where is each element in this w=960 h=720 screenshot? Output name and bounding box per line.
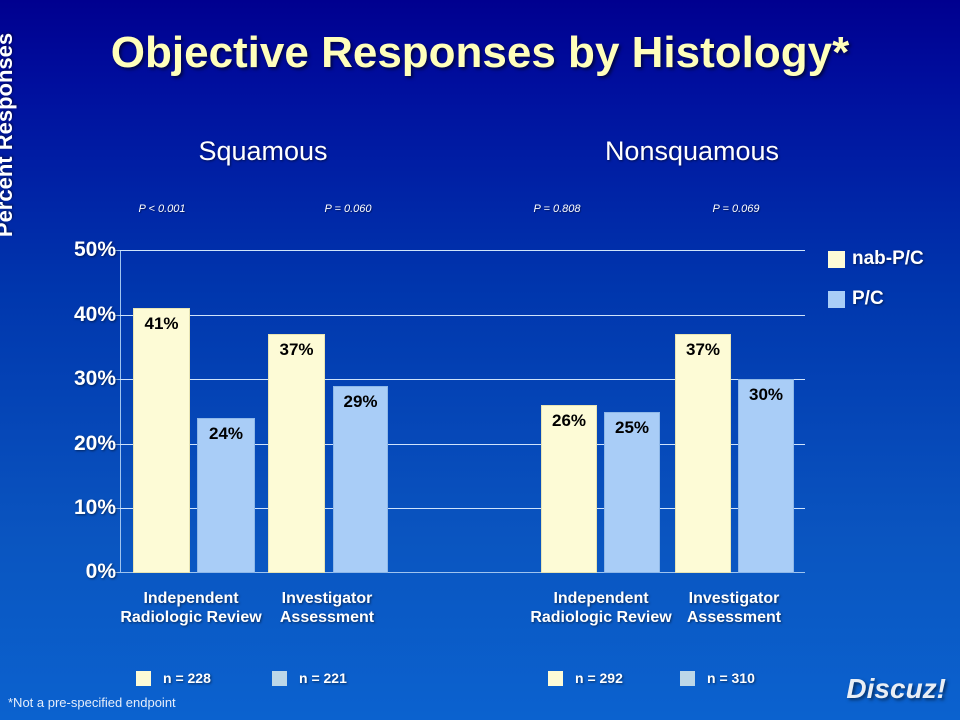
legend-item-nab-pc[interactable]: nab-P/C — [828, 248, 924, 270]
slide-canvas: Objective Responses by Histology* Squamo… — [0, 0, 960, 720]
y-tick-label: 30% — [36, 367, 116, 391]
legend-swatch-icon — [828, 251, 845, 268]
y-tick-label: 10% — [36, 496, 116, 520]
gridline-50 — [120, 250, 805, 251]
legend-label: nab-P/C — [852, 248, 924, 270]
bar-pc[interactable]: 29% — [333, 386, 388, 573]
bar-nab-pc[interactable]: 26% — [541, 405, 597, 573]
sample-size-entry: n = 292 — [548, 670, 623, 686]
bar-nab-pc[interactable]: 37% — [675, 334, 731, 573]
bar-pc[interactable]: 25% — [604, 412, 660, 574]
legend-item-pc[interactable]: P/C — [828, 288, 924, 310]
gridline-40 — [120, 315, 805, 316]
sample-size-entry: n = 221 — [272, 670, 347, 686]
sample-size-swatch-icon — [680, 671, 695, 686]
bar-value-label: 37% — [269, 340, 324, 360]
pvalue-annotation: P < 0.001 — [102, 203, 222, 215]
group-label-squamous: Squamous — [143, 136, 383, 167]
bar-nab-pc[interactable]: 41% — [133, 308, 190, 573]
bar-value-label: 37% — [676, 340, 730, 360]
sample-size-label: n = 292 — [575, 670, 623, 686]
sample-size-swatch-icon — [548, 671, 563, 686]
bar-value-label: 24% — [198, 424, 254, 444]
y-tick-label: 40% — [36, 303, 116, 327]
bar-value-label: 30% — [739, 385, 793, 405]
chart-plot-area: 50% 40% 30% 20% 10% 0% 41% 24% 37% 29% 2… — [120, 250, 805, 573]
legend-swatch-icon — [828, 291, 845, 308]
sample-size-entry: n = 310 — [680, 670, 755, 686]
x-category-label: Investigator Assessment — [247, 589, 407, 627]
y-axis-title: Percent Responses — [0, 0, 18, 285]
page-title: Objective Responses by Histology* — [0, 28, 960, 78]
sample-size-swatch-icon — [136, 671, 151, 686]
y-axis-line — [120, 250, 121, 573]
pvalue-annotation: P = 0.069 — [676, 203, 796, 215]
legend-label: P/C — [852, 288, 884, 310]
sample-size-swatch-icon — [272, 671, 287, 686]
sample-size-label: n = 221 — [299, 670, 347, 686]
footnote: *Not a pre-specified endpoint — [8, 695, 176, 710]
bar-value-label: 29% — [334, 392, 387, 412]
pvalue-annotation: P = 0.808 — [497, 203, 617, 215]
bar-pc[interactable]: 24% — [197, 418, 255, 573]
watermark: Discuz! — [846, 673, 946, 705]
bar-pc[interactable]: 30% — [738, 379, 794, 573]
bar-nab-pc[interactable]: 37% — [268, 334, 325, 573]
y-tick-label: 20% — [36, 432, 116, 456]
bar-value-label: 26% — [542, 411, 596, 431]
sample-size-label: n = 228 — [163, 670, 211, 686]
sample-size-label: n = 310 — [707, 670, 755, 686]
bar-value-label: 41% — [134, 314, 189, 334]
pvalue-annotation: P = 0.060 — [288, 203, 408, 215]
group-label-nonsquamous: Nonsquamous — [572, 136, 812, 167]
chart-legend: nab-P/C P/C — [828, 248, 924, 328]
y-tick-label: 50% — [36, 238, 116, 262]
x-category-label: Investigator Assessment — [654, 589, 814, 627]
bar-value-label: 25% — [605, 418, 659, 438]
y-tick-label: 0% — [36, 560, 116, 584]
sample-size-entry: n = 228 — [136, 670, 211, 686]
